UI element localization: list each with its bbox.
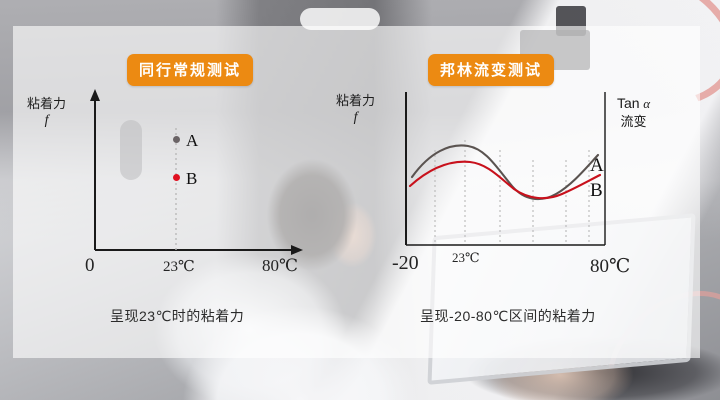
screenshot-stage: 同行常规测试 粘着力 f A B 0 23℃ 80℃ 呈现23℃时的粘着力 邦林… [0,0,720,400]
right-chart-svg [0,0,720,400]
right-curve-b-label: B [590,180,603,202]
right-x-origin-label: -20 [392,252,419,275]
right-curve-b [410,162,600,198]
right-x-end-label: 80℃ [590,255,630,278]
right-curve-a-label: A [590,155,604,177]
right-caption: 呈现-20-80℃区间的粘着力 [420,306,596,326]
right-x-tick-23c: 23℃ [452,250,480,266]
